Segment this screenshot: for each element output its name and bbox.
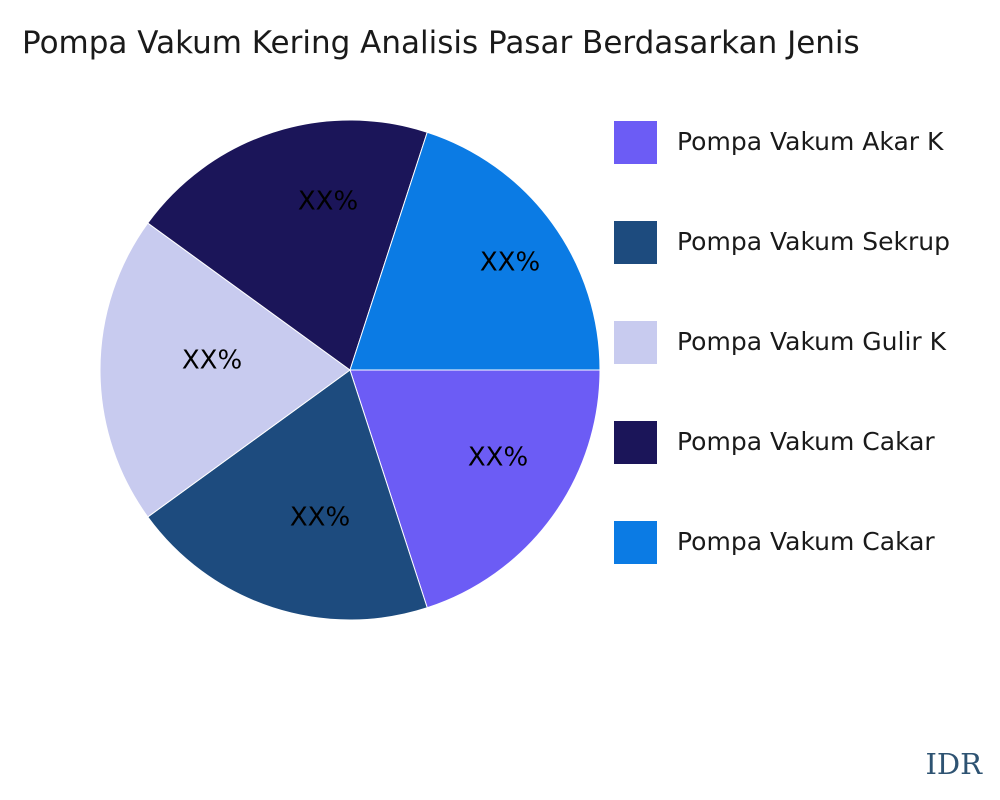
pie-slice-label: XX% bbox=[468, 443, 528, 473]
legend-swatch-icon bbox=[614, 321, 657, 364]
legend-item-label: Pompa Vakum Akar K bbox=[677, 127, 943, 157]
legend-swatch-icon bbox=[614, 521, 657, 564]
legend-swatch-icon bbox=[614, 421, 657, 464]
legend-swatch-icon bbox=[614, 221, 657, 264]
pie-slice-label: XX% bbox=[480, 248, 540, 278]
legend-item-label: Pompa Vakum Gulir K bbox=[677, 327, 946, 357]
pie-slice-label: XX% bbox=[182, 346, 242, 376]
pie-chart-svg: XX%XX%XX%XX%XX% bbox=[98, 118, 602, 622]
legend-item[interactable]: Pompa Vakum Akar K bbox=[614, 120, 943, 164]
legend-item[interactable]: Pompa Vakum Cakar bbox=[614, 420, 935, 464]
legend-item-label: Pompa Vakum Cakar bbox=[677, 427, 935, 457]
pie-chart: XX%XX%XX%XX%XX% bbox=[98, 118, 602, 622]
legend-item-label: Pompa Vakum Cakar bbox=[677, 527, 935, 557]
chart-canvas: Pompa Vakum Kering Analisis Pasar Berdas… bbox=[0, 0, 1000, 800]
legend-swatch-icon bbox=[614, 121, 657, 164]
pie-slice-label: XX% bbox=[290, 503, 350, 533]
legend: Pompa Vakum Akar KPompa Vakum SekrupPomp… bbox=[614, 118, 1000, 578]
page-title: Pompa Vakum Kering Analisis Pasar Berdas… bbox=[22, 24, 860, 62]
legend-item[interactable]: Pompa Vakum Sekrup bbox=[614, 220, 950, 264]
legend-item-label: Pompa Vakum Sekrup bbox=[677, 227, 950, 257]
pie-slice-label: XX% bbox=[298, 187, 358, 217]
currency-note: IDR bbox=[925, 747, 982, 781]
legend-item[interactable]: Pompa Vakum Cakar bbox=[614, 520, 935, 564]
legend-item[interactable]: Pompa Vakum Gulir K bbox=[614, 320, 946, 364]
